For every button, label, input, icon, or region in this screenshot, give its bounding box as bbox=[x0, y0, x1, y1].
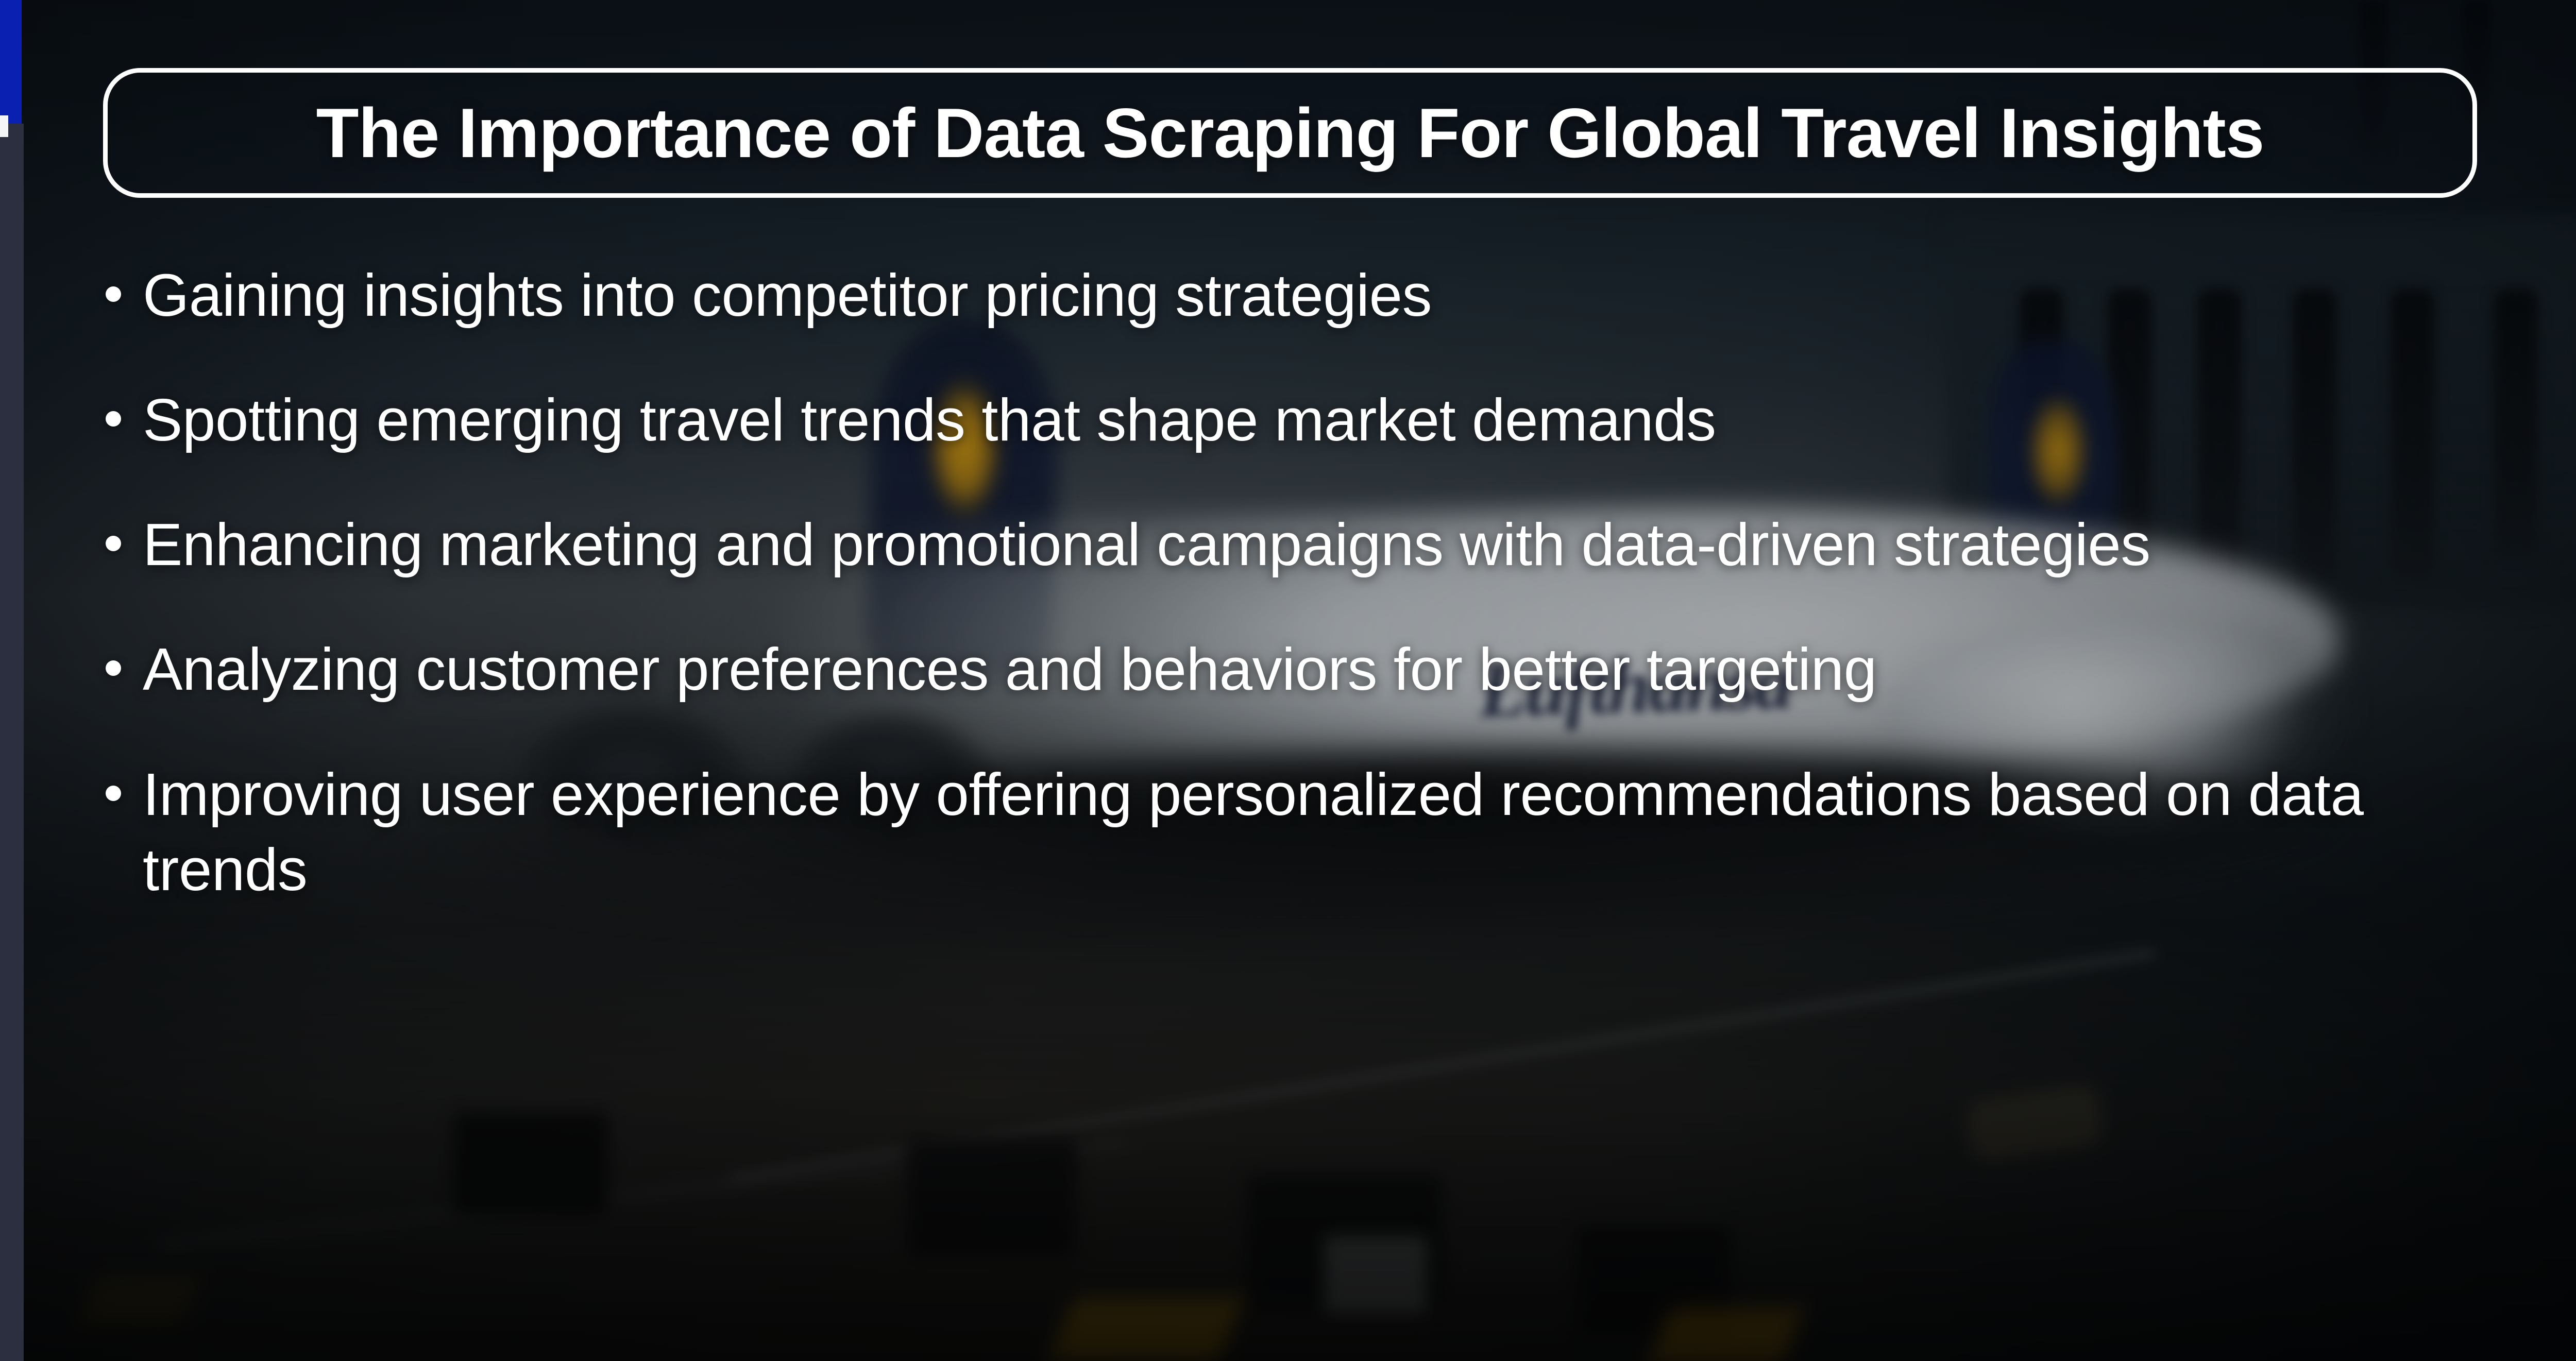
list-item-label: Enhancing marketing and promotional camp… bbox=[143, 507, 2150, 582]
presentation-slide: Lufthansa The Importance of Data Scrapin… bbox=[0, 0, 2576, 1361]
slide-title: The Importance of Data Scraping For Glob… bbox=[316, 96, 2264, 170]
left-sidebar-rail[interactable] bbox=[0, 124, 24, 1361]
list-item-label: Gaining insights into competitor pricing… bbox=[143, 258, 1432, 333]
bullet-dot-icon bbox=[106, 411, 121, 427]
bullet-dot-icon bbox=[106, 286, 121, 302]
list-item-label: Spotting emerging travel trends that sha… bbox=[143, 382, 1716, 457]
list-item: Enhancing marketing and promotional camp… bbox=[106, 507, 2501, 582]
bullet-dot-icon bbox=[106, 536, 121, 551]
rail-notch-marker bbox=[0, 115, 8, 137]
slide-title-box: The Importance of Data Scraping For Glob… bbox=[103, 68, 2477, 198]
accent-bar bbox=[0, 0, 22, 124]
list-item: Analyzing customer preferences and behav… bbox=[106, 632, 2501, 707]
list-item: Gaining insights into competitor pricing… bbox=[106, 258, 2501, 333]
bullet-dot-icon bbox=[106, 660, 121, 676]
bullet-list: Gaining insights into competitor pricing… bbox=[106, 258, 2501, 957]
slide-content: The Importance of Data Scraping For Glob… bbox=[0, 0, 2576, 1361]
bullet-dot-icon bbox=[106, 786, 121, 801]
list-item-label: Improving user experience by offering pe… bbox=[143, 757, 2441, 907]
list-item: Improving user experience by offering pe… bbox=[106, 757, 2501, 907]
list-item-label: Analyzing customer preferences and behav… bbox=[143, 632, 1877, 707]
list-item: Spotting emerging travel trends that sha… bbox=[106, 382, 2501, 457]
